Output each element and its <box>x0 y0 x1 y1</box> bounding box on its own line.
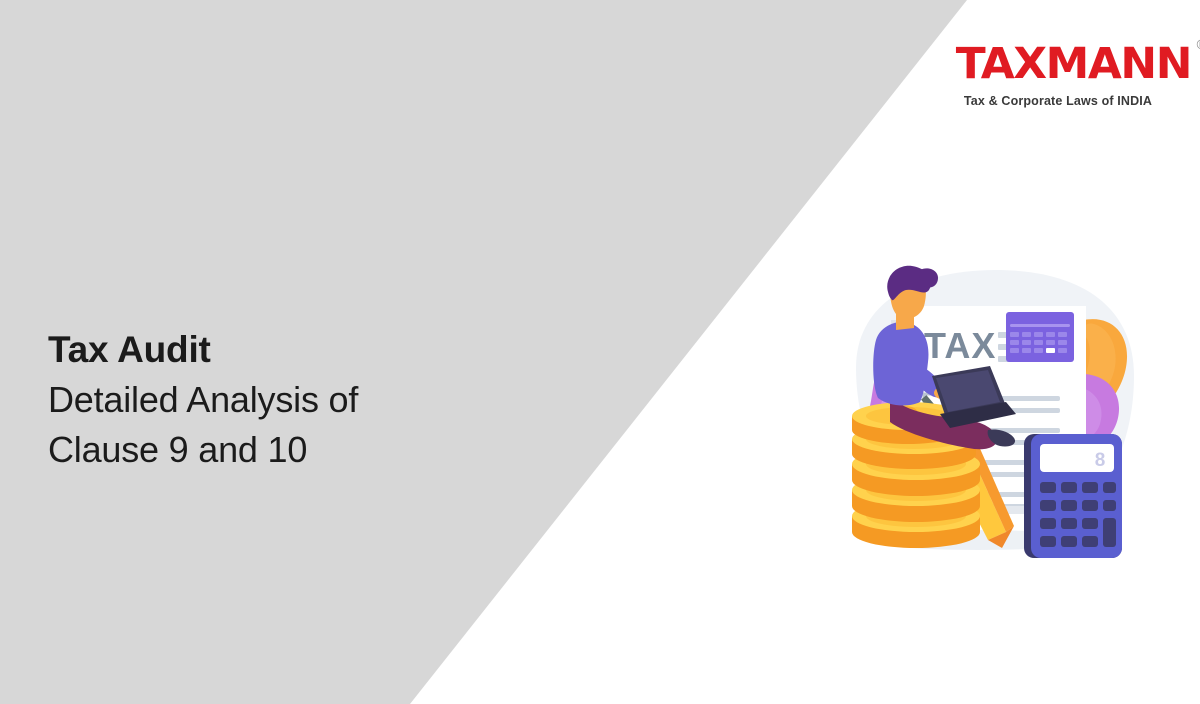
registered-trademark-icon: ® <box>1195 39 1200 52</box>
page-subtitle: Detailed Analysis of Clause 9 and 10 <box>48 375 568 474</box>
document-grid-panel <box>1006 312 1074 362</box>
slide-canvas: Tax Audit Detailed Analysis of Clause 9 … <box>0 0 1200 704</box>
calculator-enter-key <box>1103 518 1116 547</box>
document-heading-text: TAX <box>924 325 996 366</box>
logo-tagline: Tax & Corporate Laws of INDIA <box>958 94 1158 108</box>
page-subtitle-line-2: Clause 9 and 10 <box>48 425 568 475</box>
page-subtitle-line-1: Detailed Analysis of <box>48 375 568 425</box>
headline-block: Tax Audit Detailed Analysis of Clause 9 … <box>48 326 568 475</box>
tax-audit-illustration: TAX <box>828 248 1158 578</box>
page-title: Tax Audit <box>48 326 568 373</box>
brand-logo: TAXMANN ® Tax & Corporate Laws of INDIA <box>958 43 1158 108</box>
logo-wordmark: TAXMANN ® <box>956 43 1191 86</box>
calculator-display-value: 8 <box>1095 450 1106 471</box>
person-sweater <box>873 322 928 406</box>
calculator-icon: 8 <box>1024 434 1122 558</box>
logo-wordmark-text: TAXMANN <box>956 39 1191 89</box>
grid-panel-highlight-cell <box>1046 348 1055 353</box>
